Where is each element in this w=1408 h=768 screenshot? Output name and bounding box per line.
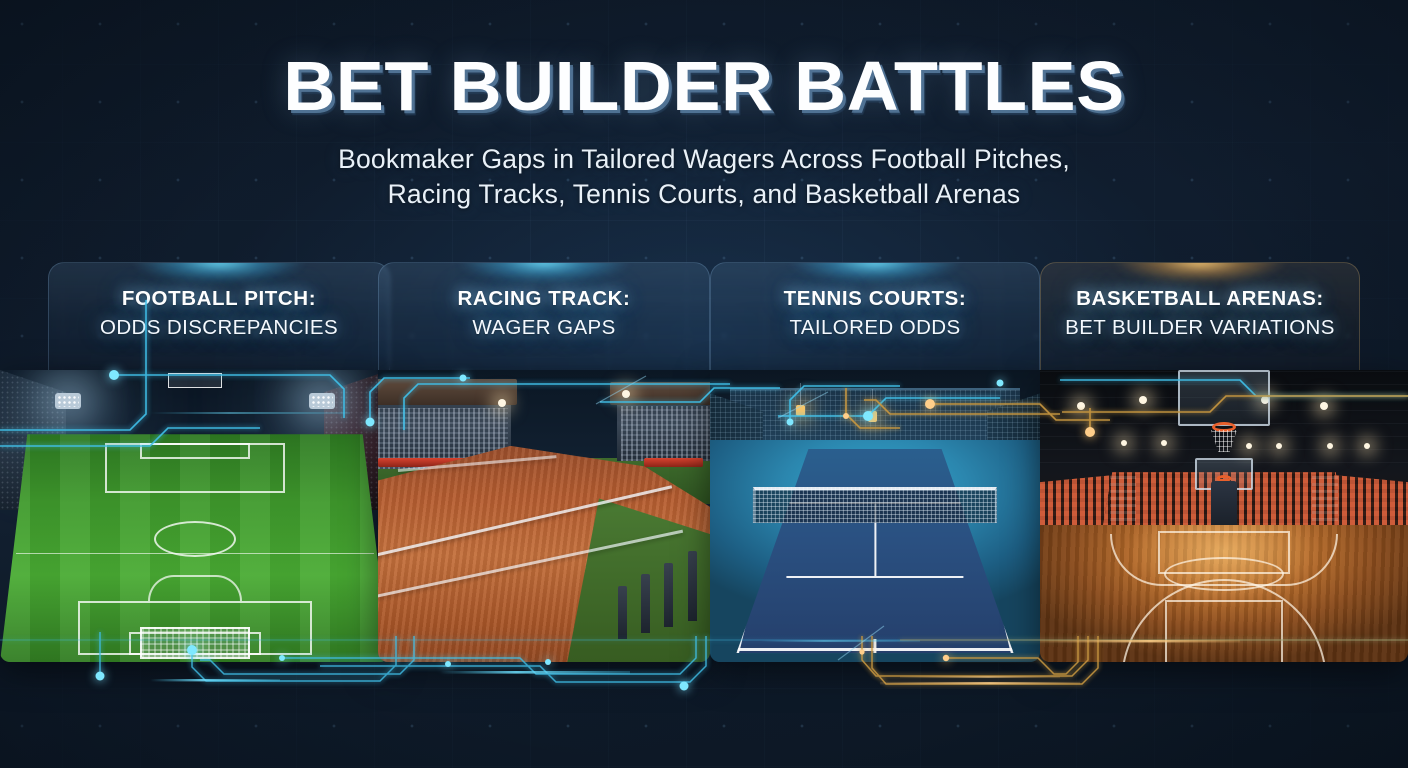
card-header-panel-basketball: BASKETBALL ARENAS: BET BUILDER VARIATION…: [1040, 262, 1360, 370]
page-subtitle: Bookmaker Gaps in Tailored Wagers Across…: [0, 142, 1408, 212]
card-label-basketball: BASKETBALL ARENAS: BET BUILDER VARIATION…: [1041, 263, 1359, 341]
card-label-line2: WAGER GAPS: [379, 315, 709, 341]
card-label-line2: TAILORED ODDS: [711, 315, 1039, 341]
card-tennis-courts[interactable]: TENNIS COURTS: TAILORED ODDS: [710, 262, 1040, 662]
card-label-line1: TENNIS COURTS:: [711, 286, 1039, 312]
card-football-pitch[interactable]: FOOTBALL PITCH: ODDS DISCREPANCIES: [48, 262, 390, 662]
football-pitch-photo: [0, 370, 390, 662]
tennis-court-photo: [710, 370, 1040, 662]
card-label-tennis: TENNIS COURTS: TAILORED ODDS: [711, 263, 1039, 341]
card-header-panel-racing: RACING TRACK: WAGER GAPS: [378, 262, 710, 370]
subtitle-line-2: Racing Tracks, Tennis Courts, and Basket…: [0, 177, 1408, 212]
infographic-stage: BET BUILDER BATTLES Bookmaker Gaps in Ta…: [0, 0, 1408, 768]
card-basketball-arenas[interactable]: BASKETBALL ARENAS: BET BUILDER VARIATION…: [1040, 262, 1360, 662]
page-title: BET BUILDER BATTLES: [0, 46, 1408, 126]
card-label-line2: ODDS DISCREPANCIES: [49, 315, 389, 341]
card-label-line1: RACING TRACK:: [379, 286, 709, 312]
card-header-panel-tennis: TENNIS COURTS: TAILORED ODDS: [710, 262, 1040, 370]
card-label-football: FOOTBALL PITCH: ODDS DISCREPANCIES: [49, 263, 389, 341]
card-header-panel-football: FOOTBALL PITCH: ODDS DISCREPANCIES: [48, 262, 390, 370]
header: BET BUILDER BATTLES Bookmaker Gaps in Ta…: [0, 0, 1408, 212]
card-label-racing: RACING TRACK: WAGER GAPS: [379, 263, 709, 341]
card-label-line1: BASKETBALL ARENAS:: [1041, 286, 1359, 312]
subtitle-line-1: Bookmaker Gaps in Tailored Wagers Across…: [0, 142, 1408, 177]
card-row: FOOTBALL PITCH: ODDS DISCREPANCIES: [0, 262, 1408, 662]
basketball-arena-photo: [1040, 370, 1408, 662]
card-label-line2: BET BUILDER VARIATIONS: [1041, 315, 1359, 341]
card-racing-track[interactable]: RACING TRACK: WAGER GAPS: [378, 262, 710, 662]
racing-track-photo: [378, 370, 710, 662]
card-label-line1: FOOTBALL PITCH:: [49, 286, 389, 312]
